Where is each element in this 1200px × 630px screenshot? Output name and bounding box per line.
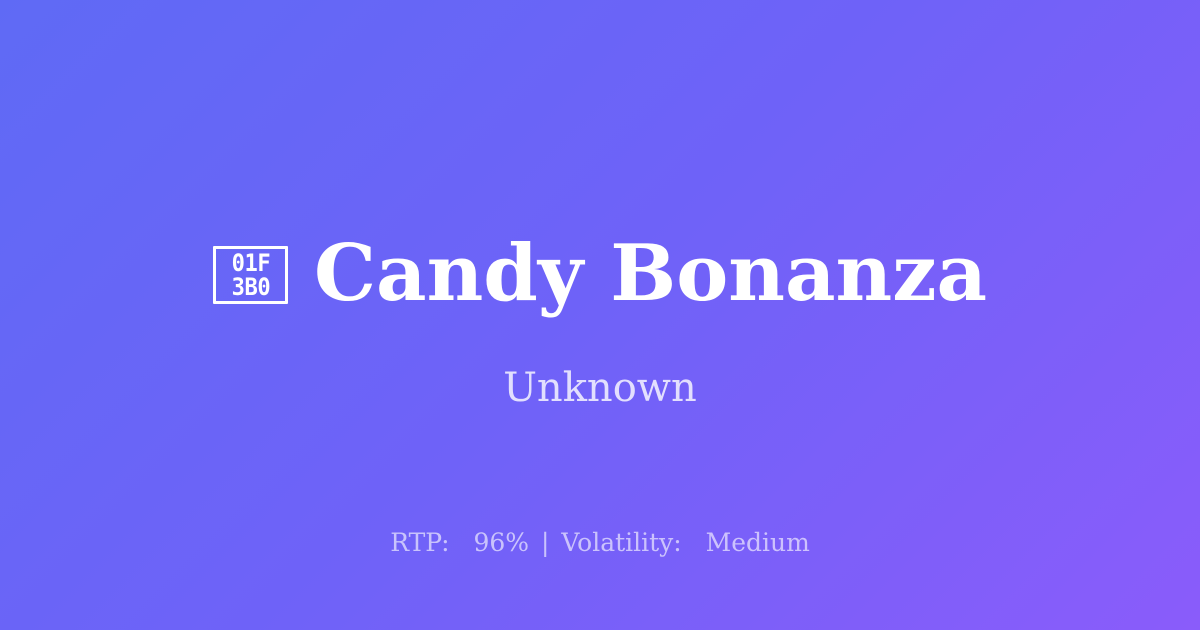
- rtp-label: RTP:: [390, 528, 449, 557]
- provider-subtitle: Unknown: [0, 364, 1200, 412]
- tofu-codepoint-bottom: 3B0: [231, 275, 270, 299]
- slot-machine-emoji-tofu-icon: 01F 3B0: [213, 246, 288, 304]
- volatility-label: Volatility:: [561, 528, 681, 557]
- page-title: Candy Bonanza: [314, 232, 987, 316]
- title-row: 01F 3B0 Candy Bonanza: [0, 232, 1200, 316]
- rtp-value: 96%: [473, 528, 529, 557]
- volatility-value: Medium: [706, 528, 810, 557]
- game-meta-line: RTP: 96% | Volatility: Medium: [0, 526, 1200, 560]
- meta-separator: |: [537, 528, 553, 557]
- tofu-codepoint-top: 01F: [231, 251, 270, 275]
- og-share-card: 01F 3B0 Candy Bonanza Unknown RTP: 96% |…: [0, 0, 1200, 630]
